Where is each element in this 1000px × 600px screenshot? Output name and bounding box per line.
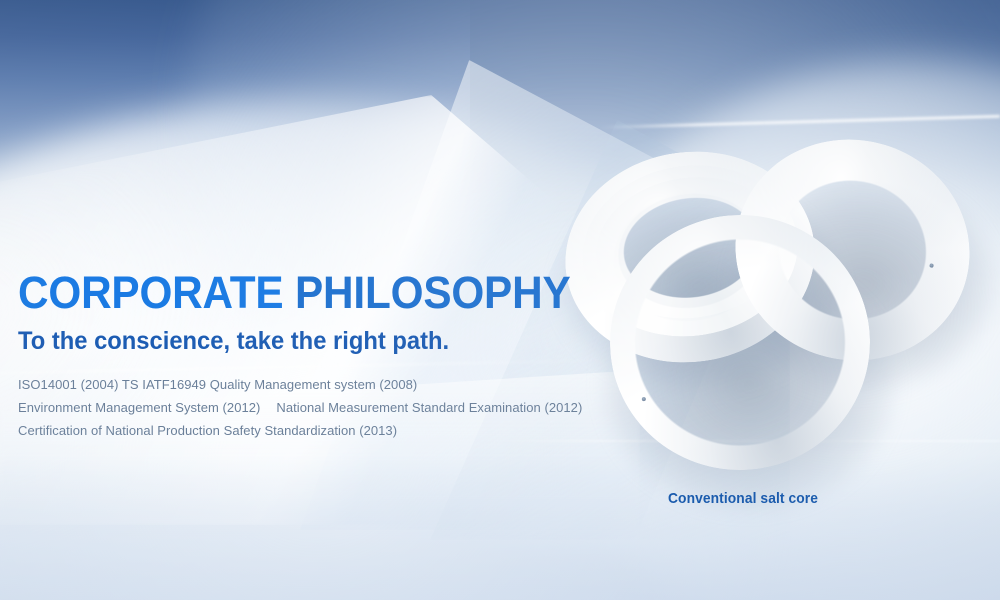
- certification-line: ISO14001 (2004) TS IATF16949 Quality Man…: [18, 373, 658, 396]
- product-caption: Conventional salt core: [668, 490, 818, 507]
- certification-item: Environment Management System (2012): [18, 400, 260, 415]
- headline-text-block: CORPORATE PHILOSOPHY To the conscience, …: [18, 268, 658, 442]
- certification-list: ISO14001 (2004) TS IATF16949 Quality Man…: [18, 373, 658, 442]
- certification-item: National Measurement Standard Examinatio…: [276, 400, 582, 415]
- headline-word-philosophy: PHILOSOPHY: [295, 267, 570, 318]
- headline-word-corporate: CORPORATE: [18, 267, 283, 318]
- certification-line: Environment Management System (2012)Nati…: [18, 396, 658, 419]
- corporate-philosophy-banner: CORPORATE PHILOSOPHY To the conscience, …: [0, 0, 1000, 600]
- certification-line: Certification of National Production Saf…: [18, 419, 658, 442]
- page-subtitle: To the conscience, take the right path.: [18, 326, 626, 356]
- page-title: CORPORATE PHILOSOPHY: [18, 268, 620, 318]
